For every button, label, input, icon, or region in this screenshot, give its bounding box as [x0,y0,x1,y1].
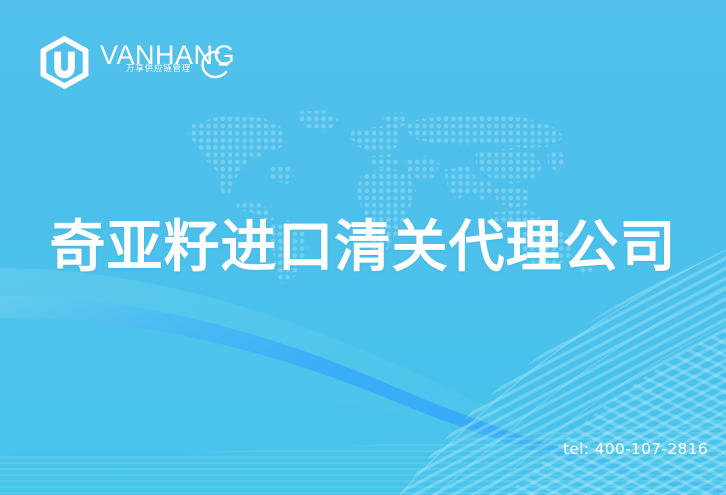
logo-subtitle: 万享供应链管理 [126,65,191,74]
page-title: 奇亚籽进口清关代理公司 [0,219,726,278]
vanhang-hexagon-u-icon [36,34,93,91]
brand-logo[interactable]: VANHANG 万享供应链管理 [36,33,228,91]
logo-text-block: VANHANG 万享供应链管理 [100,38,228,86]
contact-phone: tel: 400-107-2816 [563,440,708,458]
promo-banner: VANHANG 万享供应链管理 奇亚籽进口清关代理公司 tel: 400-107… [0,0,726,495]
